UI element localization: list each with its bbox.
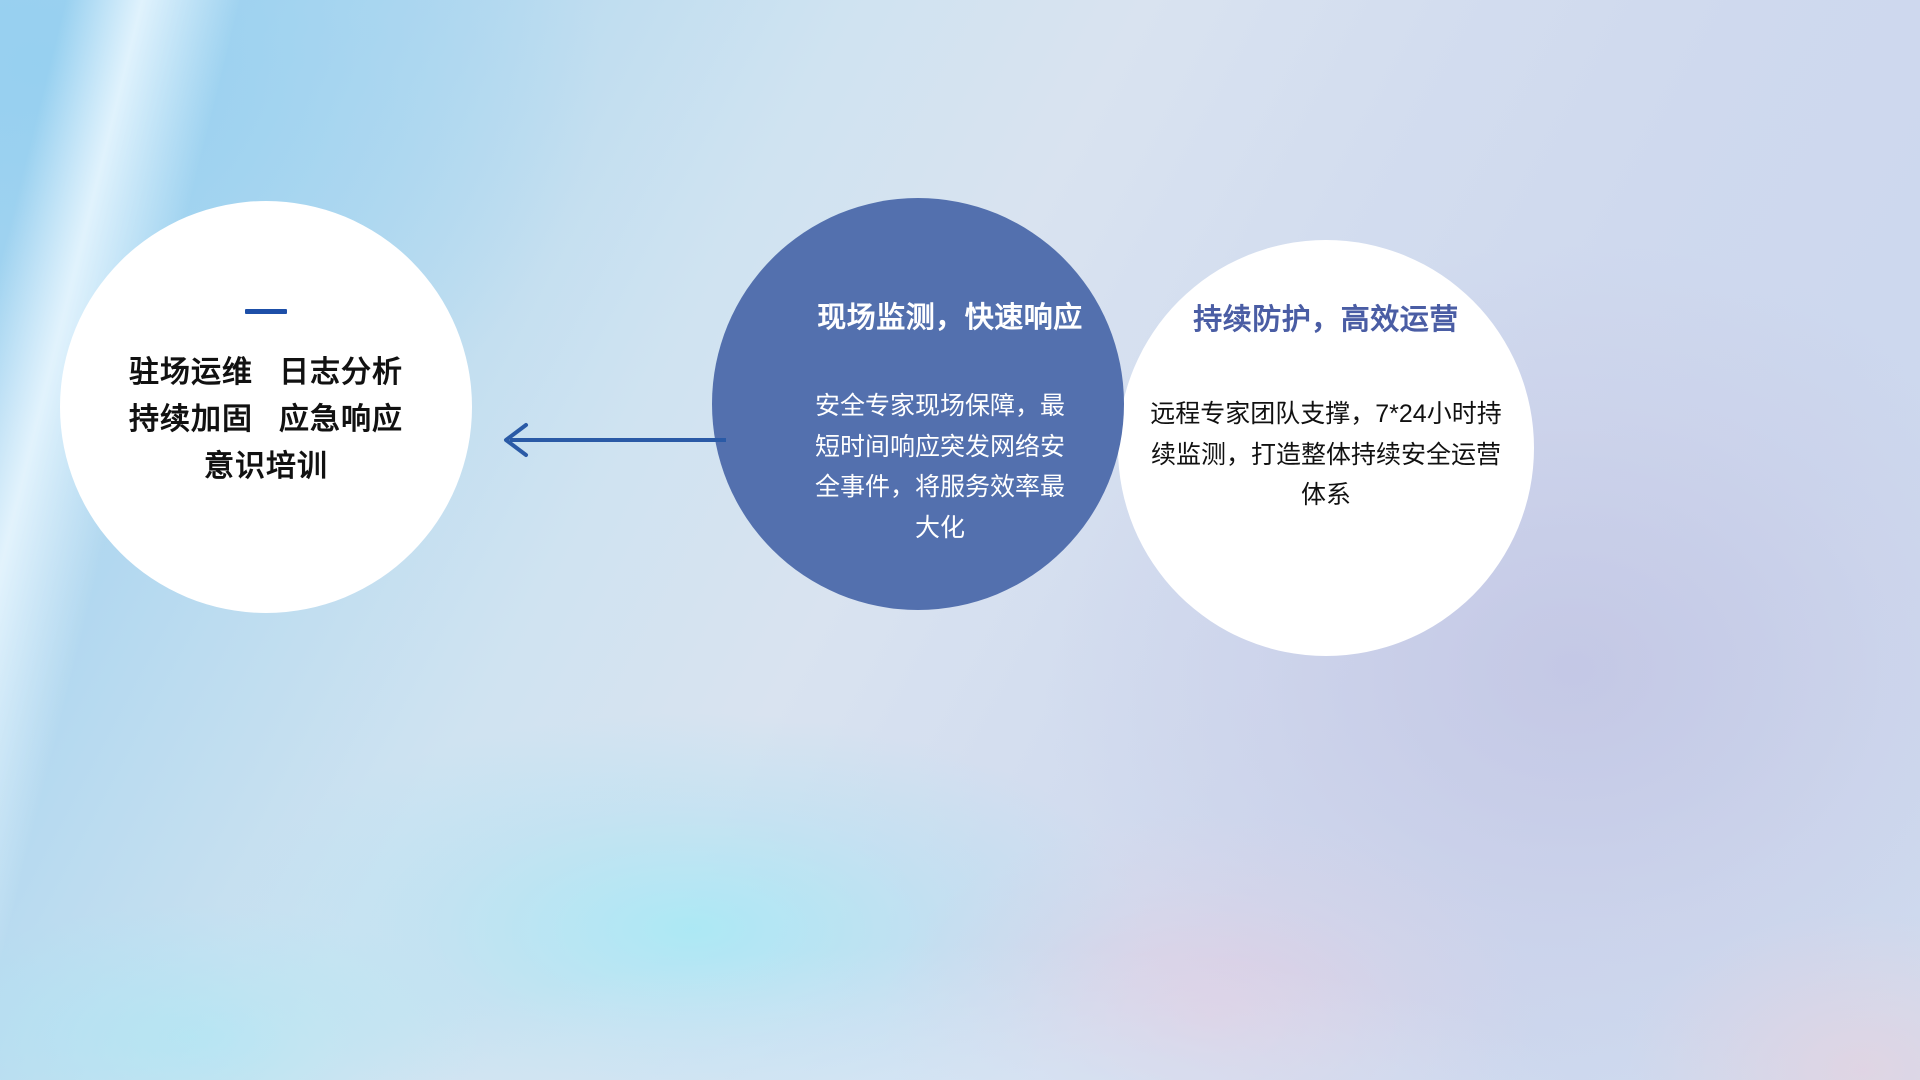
capability-list: 驻场运维日志分析 持续加固应急响应 意识培训 <box>129 358 403 482</box>
continuous-protection-heading: 持续防护，高效运营 <box>1193 296 1459 338</box>
slide-canvas: 驻场运维日志分析 持续加固应急响应 意识培训 持续防护，高效运营 远程专家团队支… <box>0 0 1920 1080</box>
capability-row-2: 持续加固应急响应 <box>129 405 403 435</box>
capability-label-log-analysis: 日志分析 <box>279 356 403 389</box>
onsite-monitoring-body: 安全专家现场保障，最短时间响应突发网络安全事件，将服务效率最大化 <box>805 386 1075 548</box>
onsite-monitoring-circle[interactable]: 现场监测，快速响应 安全专家现场保障，最短时间响应突发网络安全事件，将服务效率最… <box>712 198 1124 610</box>
capability-row-1: 驻场运维日志分析 <box>129 358 403 388</box>
continuous-protection-content: 持续防护，高效运营 远程专家团队支撑，7*24小时持续监测，打造整体持续安全运营… <box>1118 240 1534 656</box>
driven-ops-circle[interactable]: 驻场运维日志分析 持续加固应急响应 意识培训 <box>60 201 472 613</box>
connector-arrow <box>496 414 726 466</box>
capability-label-onsite-ops: 驻场运维 <box>129 356 253 389</box>
capability-label-awareness-training: 意识培训 <box>204 450 328 483</box>
arrow-left-icon <box>496 414 726 466</box>
accent-dash-divider <box>245 309 287 314</box>
continuous-protection-body: 远程专家团队支撑，7*24小时持续监测，打造整体持续安全运营体系 <box>1146 394 1506 516</box>
onsite-monitoring-heading: 现场监测，快速响应 <box>817 294 1083 336</box>
continuous-protection-circle[interactable]: 持续防护，高效运营 远程专家团队支撑，7*24小时持续监测，打造整体持续安全运营… <box>1118 240 1534 656</box>
driven-ops-content: 驻场运维日志分析 持续加固应急响应 意识培训 <box>60 201 472 613</box>
capability-label-emergency-response: 应急响应 <box>279 403 403 436</box>
capability-label-continuous-hardening: 持续加固 <box>129 403 253 436</box>
capability-row-3: 意识培训 <box>204 452 328 482</box>
onsite-monitoring-content: 现场监测，快速响应 安全专家现场保障，最短时间响应突发网络安全事件，将服务效率最… <box>712 198 1124 610</box>
